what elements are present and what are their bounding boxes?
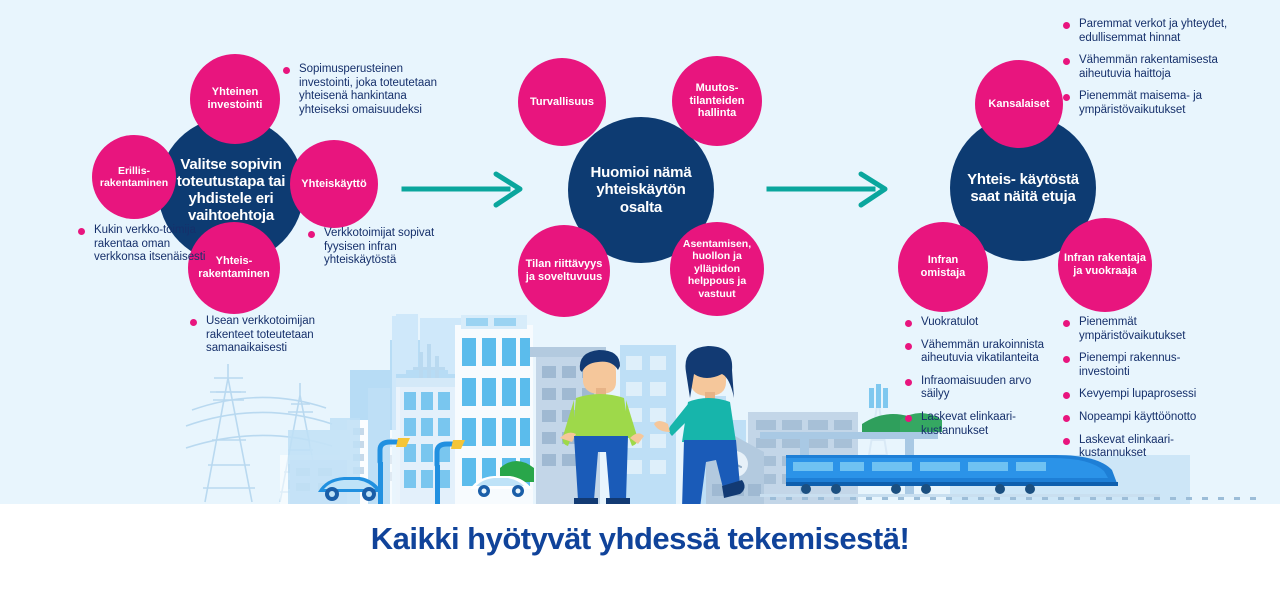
bullets-yhteisrakentaminen: Usean verkkotoimijan rakenteet toteuteta…: [190, 315, 340, 356]
list-item-text: Usean verkkotoimijan rakenteet toteuteta…: [206, 315, 315, 354]
list-item: Vuokratulot: [905, 316, 1055, 330]
list-item-text: Vuokratulot: [921, 316, 978, 328]
list-item: Verkkotoimijat sopivat fyysisen infran y…: [308, 227, 456, 268]
node-label: Yhteinen investointi: [190, 86, 280, 112]
list-item: Sopimusperusteinen investointi, joka tot…: [283, 63, 455, 117]
node-turvallisuus[interactable]: Turvallisuus: [518, 58, 606, 146]
bullets-erillisrakentaminen: Kukin verkko-toimija rakentaa oman verkk…: [78, 224, 206, 265]
node-label: Erillis- rakentaminen: [92, 165, 176, 190]
node-label: Tilan riittävyys ja soveltuvuus: [518, 258, 610, 284]
bullet-dot-icon: [905, 343, 912, 350]
list-item-text: Laskevat elinkaari-kustannukset: [921, 411, 1016, 437]
bullets-yhteiskaytto: Verkkotoimijat sopivat fyysisen infran y…: [308, 227, 456, 268]
node-infran-omistaja[interactable]: Infran omistaja: [898, 222, 988, 312]
bullet-dot-icon: [283, 67, 290, 74]
list-item: Infraomaisuuden arvo säilyy: [905, 375, 1055, 402]
footer-title: Kaikki hyötyvät yhdessä tekemisestä!: [0, 521, 1280, 557]
infographic-canvas: Valitse sopivin toteutustapa tai yhdiste…: [0, 0, 1280, 592]
hub-label: Valitse sopivin toteutustapa tai yhdiste…: [158, 156, 304, 225]
node-label: Kansalaiset: [982, 98, 1055, 111]
list-item: Nopeampi käyttöönotto: [1063, 411, 1223, 425]
arrow-right-icon-2: [765, 168, 895, 210]
list-item-text: Vähemmän rakentamisesta aiheutuvia haitt…: [1079, 54, 1218, 80]
hub-label: Yhteis- käytöstä saat näitä etuja: [950, 171, 1096, 206]
node-label: Yhteiskäyttö: [295, 178, 372, 191]
bullets-kansalaiset: Paremmat verkot ja yhteydet, edullisemma…: [1063, 18, 1233, 118]
bullet-dot-icon: [905, 379, 912, 386]
hub-label: Huomioi nämä yhteiskäytön osalta: [568, 164, 714, 216]
bullets-infran-omistaja: Vuokratulot Vähemmän urakoinnista aiheut…: [905, 316, 1055, 438]
list-item-text: Verkkotoimijat sopivat fyysisen infran y…: [324, 227, 434, 266]
list-item-text: Sopimusperusteinen investointi, joka tot…: [299, 63, 437, 116]
list-item: Usean verkkotoimijan rakenteet toteuteta…: [190, 315, 340, 356]
bullet-dot-icon: [1063, 356, 1070, 363]
bullet-dot-icon: [1063, 94, 1070, 101]
bullet-dot-icon: [308, 231, 315, 238]
bullet-dot-icon: [1063, 392, 1070, 399]
list-item: Vähemmän rakentamisesta aiheutuvia haitt…: [1063, 54, 1233, 81]
list-item: Pienemmät maisema- ja ympäristövaikutuks…: [1063, 90, 1233, 117]
list-item-text: Pienempi rakennus-investointi: [1079, 352, 1180, 378]
node-erillisrakentaminen[interactable]: Erillis- rakentaminen: [92, 135, 176, 219]
node-label: Asentamisen, huollon ja ylläpidon helppo…: [670, 238, 764, 300]
node-label: Turvallisuus: [524, 96, 600, 109]
list-item-text: Paremmat verkot ja yhteydet, edullisemma…: [1079, 18, 1227, 44]
bullet-dot-icon: [905, 320, 912, 327]
bullet-dot-icon: [1063, 58, 1070, 65]
bullet-dot-icon: [190, 319, 197, 326]
bullets-yhteinen-investointi: Sopimusperusteinen investointi, joka tot…: [283, 63, 455, 117]
list-item-text: Pienemmät maisema- ja ympäristövaikutuks…: [1079, 90, 1202, 116]
node-muutostilanteiden-hallinta[interactable]: Muutos- tilanteiden hallinta: [672, 56, 762, 146]
arrow-right-icon-1: [400, 168, 530, 210]
list-item-text: Kukin verkko-toimija rakentaa oman verkk…: [94, 224, 205, 263]
list-item: Pienemmät ympäristövaikutukset: [1063, 316, 1223, 343]
list-item: Laskevat elinkaari-kustannukset: [905, 411, 1055, 438]
node-label: Infran omistaja: [898, 254, 988, 280]
node-label: Infran rakentaja ja vuokraaja: [1058, 252, 1152, 278]
bullet-dot-icon: [1063, 438, 1070, 445]
list-item-text: Laskevat elinkaari-kustannukset: [1079, 434, 1174, 460]
node-kansalaiset[interactable]: Kansalaiset: [975, 60, 1063, 148]
list-item: Kevyempi lupaprosessi: [1063, 388, 1223, 402]
list-item: Laskevat elinkaari-kustannukset: [1063, 434, 1223, 461]
list-item: Pienempi rakennus-investointi: [1063, 352, 1223, 379]
list-item-text: Nopeampi käyttöönotto: [1079, 411, 1196, 423]
node-yhteiskaytto[interactable]: Yhteiskäyttö: [290, 140, 378, 228]
list-item-text: Pienemmät ympäristövaikutukset: [1079, 316, 1185, 342]
list-item-text: Kevyempi lupaprosessi: [1079, 388, 1196, 400]
list-item-text: Infraomaisuuden arvo säilyy: [921, 375, 1031, 401]
list-item: Kukin verkko-toimija rakentaa oman verkk…: [78, 224, 206, 265]
node-yhteinen-investointi[interactable]: Yhteinen investointi: [190, 54, 280, 144]
node-label: Muutos- tilanteiden hallinta: [672, 82, 762, 121]
bullet-dot-icon: [1063, 22, 1070, 29]
list-item: Vähemmän urakoinnista aiheutuvia vikatil…: [905, 339, 1055, 366]
bullet-dot-icon: [905, 415, 912, 422]
bullet-dot-icon: [78, 228, 85, 235]
bullet-dot-icon: [1063, 415, 1070, 422]
node-infran-rakentaja-vuokraaja[interactable]: Infran rakentaja ja vuokraaja: [1058, 218, 1152, 312]
list-item: Paremmat verkot ja yhteydet, edullisemma…: [1063, 18, 1233, 45]
list-item-text: Vähemmän urakoinnista aiheutuvia vikatil…: [921, 339, 1044, 365]
bullet-dot-icon: [1063, 320, 1070, 327]
bullets-infran-rakentaja: Pienemmät ympäristövaikutukset Pienempi …: [1063, 316, 1223, 461]
node-asentamisen-huollon[interactable]: Asentamisen, huollon ja ylläpidon helppo…: [670, 222, 764, 316]
node-tilan-riittavyys[interactable]: Tilan riittävyys ja soveltuvuus: [518, 225, 610, 317]
